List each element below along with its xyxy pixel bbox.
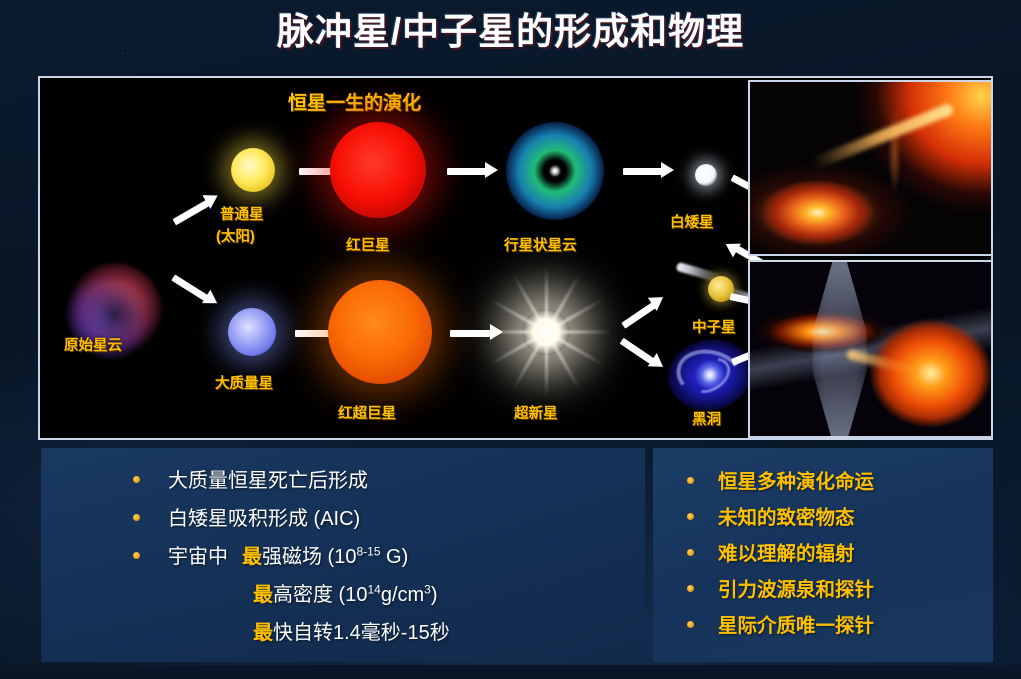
arrow-redgiant-to-planetarynebula [447, 164, 501, 176]
white-dwarf-icon [695, 164, 717, 186]
highlight-tail-2: ) [431, 584, 438, 606]
bullet-label: 星际介质唯一探针 [718, 609, 874, 638]
stage-label-supernova: 超新星 [514, 402, 558, 423]
bullet-dot-icon [687, 549, 694, 556]
inline-highlight-text: 最强磁场 (108-15 G) [242, 540, 408, 569]
highlight-rest: 强磁场 (10 [262, 546, 356, 568]
highlight-word: 最 [253, 584, 273, 606]
arrow-nebula-to-mainsequence [170, 190, 221, 226]
page-title: 脉冲星/中子星的形成和物理 [0, 6, 1021, 58]
bullet-label: 引力波源泉和探针 [718, 573, 874, 602]
arrow-nebula-to-massive [171, 271, 221, 309]
stage-label-red-supergiant: 红超巨星 [338, 402, 396, 423]
list-item: 引力波源泉和探针 [687, 573, 993, 609]
bullet-dot-icon [687, 477, 694, 484]
microquasar-jets-photo [748, 260, 993, 438]
highlight-rest: 高密度 (10 [273, 584, 367, 606]
bullet-label: 大质量恒星死亡后形成 [168, 464, 368, 493]
main-sequence-star-icon [231, 148, 275, 192]
stage-label-red-giant: 红巨星 [346, 234, 390, 255]
bullet-dot-icon [687, 513, 694, 520]
bullet-dot-icon [133, 476, 140, 483]
stage-label-massive-star: 大质量星 [215, 372, 273, 393]
stage-label-black-hole: 黑洞 [692, 408, 721, 429]
highlight-rest: 快自转1.4毫秒-15秒 [273, 622, 450, 644]
stage-label-white-dwarf: 白矮星 [670, 211, 714, 232]
bullet-label: 宇宙中 [168, 540, 228, 569]
bullet-dot-icon [133, 552, 140, 559]
list-item: 大质量恒星死亡后形成 [133, 464, 645, 502]
arrow-supernova-to-neutronstar [619, 290, 669, 329]
stage-label-main-sequence-star: 普通星 [220, 203, 264, 224]
list-item: 白矮星吸积形成 (AIC) [133, 502, 645, 540]
highlight-tail: G) [381, 546, 409, 568]
list-item: 未知的致密物态 [687, 501, 993, 537]
bullet-label: 未知的致密物态 [718, 501, 855, 530]
highlight-tail: g/cm [381, 584, 424, 606]
red-supergiant-icon [328, 280, 432, 384]
massive-star-icon [228, 308, 276, 356]
list-item: 恒星多种演化命运 [687, 465, 993, 501]
bullet-dot-icon [687, 621, 694, 628]
sub-line: 最高密度 (1014g/cm3) [253, 578, 645, 616]
highlight-word: 最 [242, 546, 262, 568]
stage-label-neutron-star: 中子星 [692, 316, 736, 337]
superscript: 14 [367, 582, 380, 596]
stage-label-main-sequence-star-sub: (太阳) [216, 225, 255, 246]
planetary-nebula-icon [506, 122, 604, 220]
bipolar-jet [813, 260, 867, 438]
bullet-label: 恒星多种演化命运 [718, 465, 874, 494]
bullet-label: 难以理解的辐射 [718, 537, 855, 566]
mass-transfer-stream [811, 102, 955, 169]
list-item: 宇宙中 最强磁场 (108-15 G) [133, 540, 645, 578]
bullet-dot-icon [687, 585, 694, 592]
accretion-disk-photo [748, 80, 993, 256]
superscript: 8-15 [356, 544, 380, 558]
sub-line: 最快自转1.4毫秒-15秒 [253, 616, 645, 654]
arrow-supernova-to-blackhole [619, 334, 669, 373]
list-item: 星际介质唯一探针 [687, 609, 993, 645]
stage-label-planetary-nebula: 行星状星云 [504, 234, 577, 255]
superscript-2: 3 [424, 582, 431, 596]
bullet-dot-icon [133, 514, 140, 521]
highlight-word: 最 [253, 622, 273, 644]
science-topics-panel: 恒星多种演化命运 未知的致密物态 难以理解的辐射 引力波源泉和探针 星际介质唯一… [653, 448, 993, 662]
black-hole-icon [662, 332, 759, 418]
supernova-icon [476, 262, 616, 402]
stage-label-protostellar-nebula: 原始星云 [64, 334, 122, 355]
list-item: 难以理解的辐射 [687, 537, 993, 573]
red-giant-icon [330, 122, 426, 218]
formation-properties-panel: 大质量恒星死亡后形成 白矮星吸积形成 (AIC) 宇宙中 最强磁场 (108-1… [41, 448, 645, 662]
arrow-planetarynebula-to-whitedwarf [623, 164, 677, 176]
bullet-label: 白矮星吸积形成 (AIC) [168, 502, 360, 531]
diagram-title: 恒星一生的演化 [288, 88, 421, 115]
stellar-evolution-diagram: 恒星一生的演化 原始星云 普通星 (太阳) 红巨星 行星状星云 白矮星 大质量星… [38, 76, 993, 440]
